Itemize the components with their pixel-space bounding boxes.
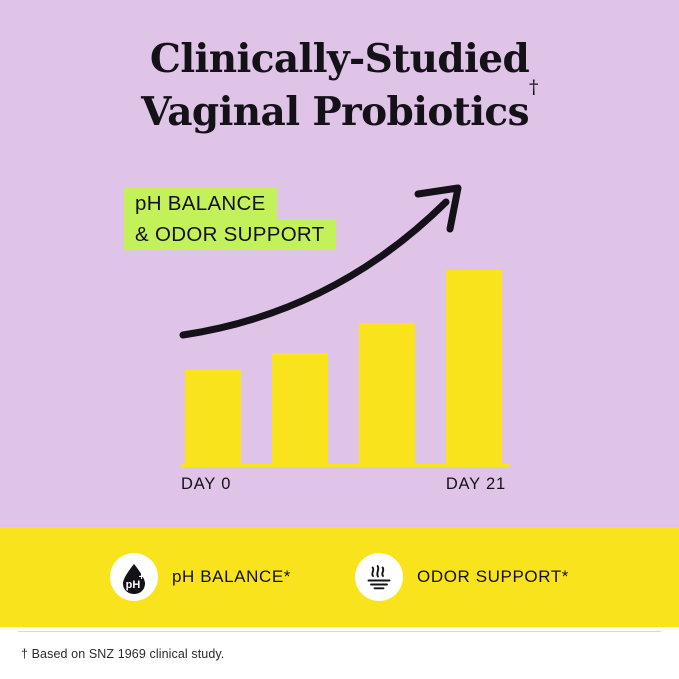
footnote-area: † Based on SNZ 1969 clinical study. bbox=[0, 627, 679, 679]
ph-balance-badge: pH + bbox=[110, 553, 158, 601]
benefit-ph-balance: pH + pH BALANCE* bbox=[110, 553, 291, 601]
svg-text:+: + bbox=[139, 572, 145, 583]
chart-axis-labels: DAY 0 DAY 21 bbox=[181, 475, 509, 497]
growth-bar-chart: DAY 0 DAY 21 bbox=[0, 0, 679, 527]
benefit-odor-support: ODOR SUPPORT* bbox=[355, 553, 569, 601]
product-infographic: Clinically-Studied Vaginal Probiotics† D… bbox=[0, 0, 679, 679]
ph-droplet-icon: pH + bbox=[112, 555, 156, 599]
chart-axis-line bbox=[181, 464, 509, 467]
benefit-label-ph-balance: pH BALANCE* bbox=[172, 567, 291, 587]
hero-panel: Clinically-Studied Vaginal Probiotics† D… bbox=[0, 0, 679, 527]
benefits-band: pH + pH BALANCE* OD bbox=[0, 527, 679, 627]
odor-support-badge bbox=[355, 553, 403, 601]
callout-ph-balance: pH BALANCE bbox=[124, 188, 277, 219]
callout-labels: pH BALANCE & ODOR SUPPORT bbox=[124, 188, 336, 250]
footnote-divider bbox=[18, 631, 661, 632]
odor-waves-icon bbox=[357, 555, 401, 599]
callout-odor-support: & ODOR SUPPORT bbox=[124, 219, 336, 250]
footnote-text: † Based on SNZ 1969 clinical study. bbox=[21, 647, 224, 661]
axis-label-day-21: DAY 21 bbox=[446, 475, 506, 494]
axis-label-day-0: DAY 0 bbox=[181, 475, 231, 494]
bar-day-0 bbox=[185, 370, 241, 465]
trend-arrow-icon bbox=[150, 150, 530, 380]
benefit-label-odor-support: ODOR SUPPORT* bbox=[417, 567, 569, 587]
